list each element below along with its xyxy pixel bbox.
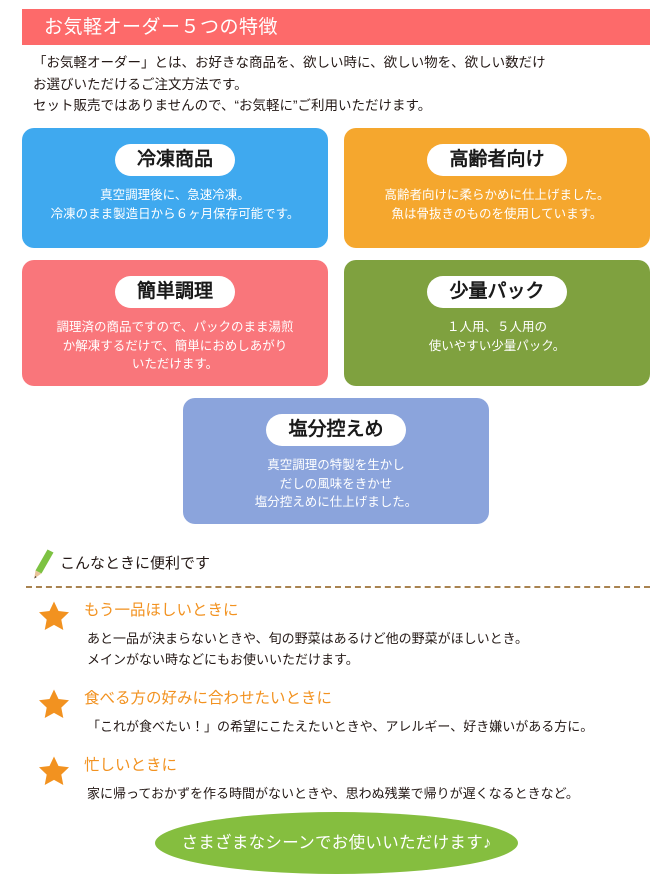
feature-card-description: 真空調理の特製を生かし だしの風味をきかせ 塩分控えめに仕上げました。 bbox=[255, 456, 418, 512]
star-icon bbox=[38, 600, 70, 632]
cta-label: さまざまなシーンでお使いいただけます♪ bbox=[181, 835, 491, 852]
use-case-description: 「これが食べたい！」の希望にこたえたいときや、アレルギー、好き嫌いがある方に。 bbox=[84, 716, 650, 737]
cta-banner: さまざまなシーンでお使いいただけます♪ bbox=[155, 812, 518, 874]
use-cases-heading: こんなときに便利です bbox=[30, 548, 650, 580]
feature-card-description: 真空調理後に、急速冷凍。 冷凍のまま製造日から６ヶ月保存可能です。 bbox=[51, 186, 300, 223]
star-icon bbox=[38, 755, 70, 787]
star-icon bbox=[38, 688, 70, 720]
feature-card-description: １人用、５人用の 使いやすい少量パック。 bbox=[429, 318, 566, 355]
feature-card-label: 高齢者向け bbox=[427, 144, 566, 176]
feature-card-low-salt: 塩分控えめ 真空調理の特製を生かし だしの風味をきかせ 塩分控えめに仕上げました… bbox=[183, 398, 489, 524]
feature-card-easy-cooking: 簡単調理 調理済の商品ですので、パックのまま湯煎 か解凍するだけで、簡単におめし… bbox=[22, 260, 328, 386]
pencil-icon bbox=[30, 548, 56, 580]
feature-card-elderly: 高齢者向け 高齢者向けに柔らかめに仕上げました。 魚は骨抜きのものを使用していま… bbox=[344, 128, 650, 248]
feature-card-row-2: 簡単調理 調理済の商品ですので、パックのまま湯煎 か解凍するだけで、簡単におめし… bbox=[22, 260, 650, 386]
intro-paragraph: 「お気軽オーダー」とは、お好きな商品を、欲しい時に、欲しい物を、欲しい数だけ お… bbox=[33, 52, 633, 117]
list-item: 忙しいときに 家に帰っておかずを作る時間がないときや、思わぬ残業で帰りが遅くなる… bbox=[36, 753, 650, 804]
list-item: もう一品ほしいときに あと一品が決まらないときや、旬の野菜はあるけど他の野菜がほ… bbox=[36, 598, 650, 670]
cta-ellipse: さまざまなシーンでお使いいただけます♪ bbox=[155, 812, 518, 874]
use-case-title: 忙しいときに bbox=[84, 753, 650, 779]
use-cases-heading-label: こんなときに便利です bbox=[60, 556, 210, 573]
feature-card-description: 調理済の商品ですので、パックのまま湯煎 か解凍するだけで、簡単におめしあがり い… bbox=[56, 318, 293, 374]
use-case-title: もう一品ほしいときに bbox=[84, 598, 650, 624]
feature-card-small-pack: 少量パック １人用、５人用の 使いやすい少量パック。 bbox=[344, 260, 650, 386]
use-case-description: あと一品が決まらないときや、旬の野菜はあるけど他の野菜がほしいとき。 メインがな… bbox=[84, 628, 650, 670]
use-case-title: 食べる方の好みに合わせたいときに bbox=[84, 686, 650, 712]
section-divider bbox=[26, 586, 650, 588]
feature-card-frozen: 冷凍商品 真空調理後に、急速冷凍。 冷凍のまま製造日から６ヶ月保存可能です。 bbox=[22, 128, 328, 248]
feature-card-row-3: 塩分控えめ 真空調理の特製を生かし だしの風味をきかせ 塩分控えめに仕上げました… bbox=[22, 398, 650, 524]
use-cases-list: もう一品ほしいときに あと一品が決まらないときや、旬の野菜はあるけど他の野菜がほ… bbox=[36, 598, 650, 820]
feature-card-label: 少量パック bbox=[427, 276, 566, 308]
feature-card-label: 塩分控えめ bbox=[266, 414, 405, 446]
page-title: お気軽オーダー５つの特徴 bbox=[22, 18, 278, 37]
list-item: 食べる方の好みに合わせたいときに 「これが食べたい！」の希望にこたえたいときや、… bbox=[36, 686, 650, 737]
page-header-banner: お気軽オーダー５つの特徴 bbox=[22, 9, 650, 45]
feature-card-description: 高齢者向けに柔らかめに仕上げました。 魚は骨抜きのものを使用しています。 bbox=[384, 186, 609, 223]
feature-card-label: 簡単調理 bbox=[115, 276, 235, 308]
feature-card-row-1: 冷凍商品 真空調理後に、急速冷凍。 冷凍のまま製造日から６ヶ月保存可能です。 高… bbox=[22, 128, 650, 248]
feature-card-grid: 冷凍商品 真空調理後に、急速冷凍。 冷凍のまま製造日から６ヶ月保存可能です。 高… bbox=[22, 128, 650, 536]
use-case-description: 家に帰っておかずを作る時間がないときや、思わぬ残業で帰りが遅くなるときなど。 bbox=[84, 783, 650, 804]
feature-card-label: 冷凍商品 bbox=[115, 144, 235, 176]
